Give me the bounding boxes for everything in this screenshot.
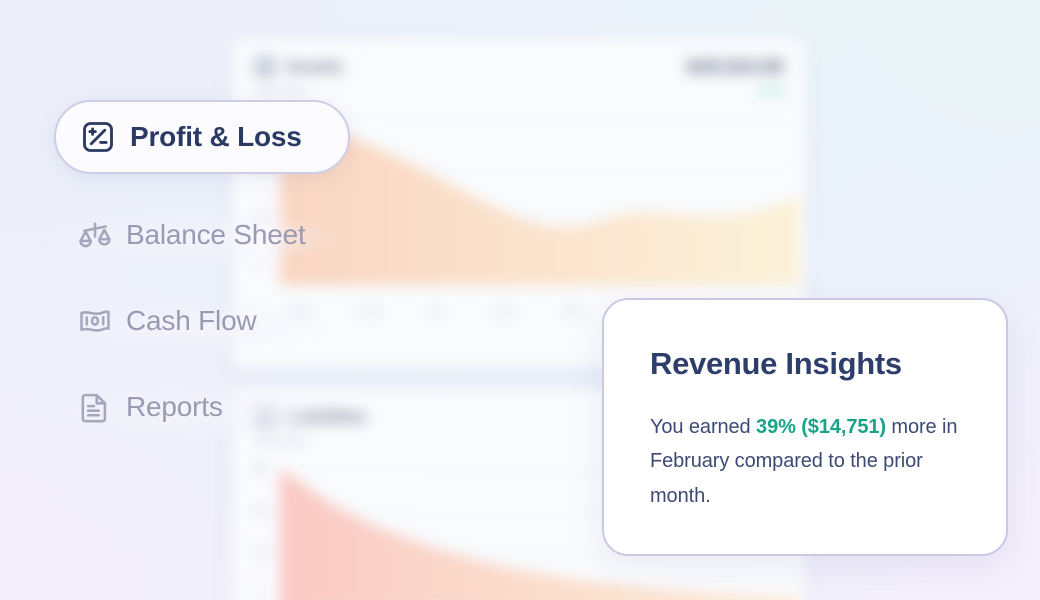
banknote-icon	[78, 304, 112, 338]
sidebar-item-label: Reports	[126, 391, 223, 423]
liabilities-ytick: 10k	[252, 548, 268, 559]
balance-scale-icon	[78, 218, 112, 252]
sidebar-item-balance-sheet[interactable]: Balance Sheet	[54, 210, 364, 260]
assets-xtick: AUG	[493, 307, 516, 318]
assets-card-title: Assets	[286, 57, 343, 77]
sidebar-item-label: Cash Flow	[126, 305, 256, 337]
profit-loss-calculator-icon	[80, 119, 116, 155]
sidebar: Profit & Loss Balance Sheet Cash Flow	[54, 112, 364, 468]
revenue-insights-body: You earned 39% ($14,751) more in Februar…	[650, 410, 962, 513]
assets-xtick: JUL	[427, 307, 447, 318]
assets-delta: 4.1%	[758, 85, 784, 97]
insights-text-before: You earned	[650, 416, 756, 438]
revenue-insights-card: Revenue Insights You earned 39% ($14,751…	[602, 298, 1008, 556]
sidebar-item-label: Profit & Loss	[130, 121, 302, 153]
screen: Assets April 2024 $49,524.80 4.1% 60k 40…	[0, 0, 1040, 600]
sidebar-item-label: Balance Sheet	[126, 219, 306, 251]
assets-amount: $49,524.80	[687, 57, 784, 79]
assets-card-subtitle: April 2024	[255, 85, 784, 97]
liabilities-ytick: 0	[252, 590, 258, 600]
document-icon	[78, 390, 112, 424]
insights-highlight: 39% ($14,751)	[756, 416, 886, 438]
sidebar-item-cash-flow[interactable]: Cash Flow	[54, 296, 364, 346]
assets-icon	[254, 56, 276, 78]
sidebar-item-profit-and-loss[interactable]: Profit & Loss	[54, 100, 350, 174]
sidebar-item-reports[interactable]: Reports	[54, 382, 364, 432]
liabilities-ytick: 20k	[252, 506, 268, 517]
assets-card-header: Assets April 2024 $49,524.80 4.1%	[232, 38, 806, 110]
assets-xtick: SEP	[563, 307, 585, 318]
revenue-insights-title: Revenue Insights	[650, 346, 962, 382]
